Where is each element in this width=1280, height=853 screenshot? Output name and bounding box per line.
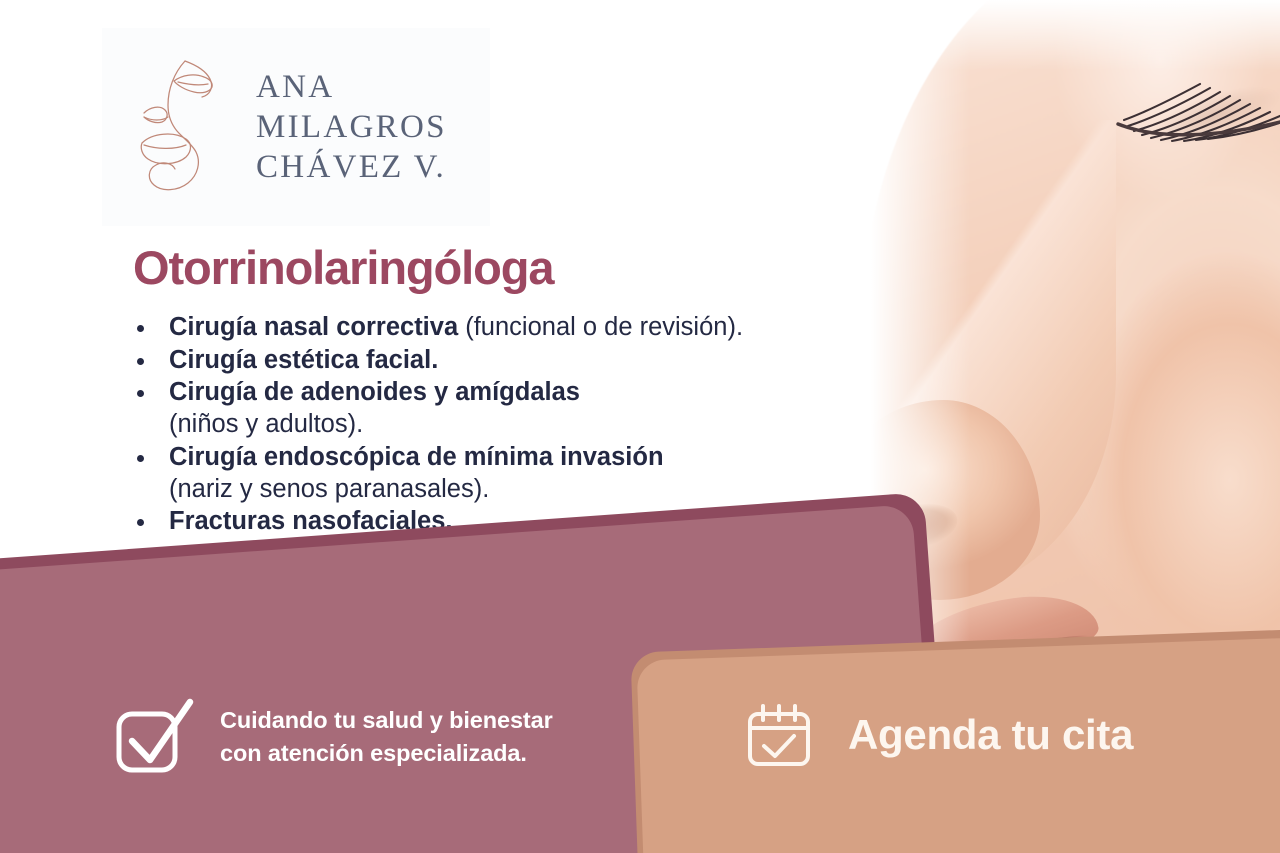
line-art-face-icon <box>130 51 242 203</box>
logo-line-3: CHÁVEZ V. <box>256 147 447 187</box>
service-name: Cirugía estética facial. <box>169 346 438 374</box>
slogan-line-2: con atención especializada. <box>220 737 553 770</box>
calendar-check-icon <box>744 700 814 770</box>
slogan-text: Cuidando tu salud y bienestar con atenci… <box>220 704 553 771</box>
photo-top-fade <box>820 0 1280 70</box>
list-item: Cirugía endoscópica de mínima invasión (… <box>133 442 743 505</box>
appointment-cta[interactable]: Agenda tu cita <box>744 700 1133 770</box>
logo-line-1: ANA <box>256 67 447 107</box>
checkbox-check-icon <box>112 694 198 780</box>
list-item: Cirugía estética facial. <box>133 345 743 377</box>
service-subdetail: (nariz y senos paranasales). <box>169 474 743 506</box>
poster-canvas: ANA MILAGROS CHÁVEZ V. Otorrinolaringólo… <box>0 0 1280 853</box>
brand-logo: ANA MILAGROS CHÁVEZ V. <box>102 28 490 226</box>
service-subdetail: (niños y adultos). <box>169 409 743 441</box>
service-detail: (funcional o de revisión). <box>458 313 743 341</box>
list-item: Cirugía nasal correctiva (funcional o de… <box>133 312 743 344</box>
service-name: Cirugía endoscópica de mínima invasión <box>169 443 664 471</box>
service-name: Cirugía de adenoides y amígdalas <box>169 378 580 406</box>
cta-label: Agenda tu cita <box>848 711 1133 759</box>
services-list: Cirugía nasal correctiva (funcional o de… <box>133 312 743 539</box>
list-item: Cirugía de adenoides y amígdalas (niños … <box>133 377 743 440</box>
logo-wordmark: ANA MILAGROS CHÁVEZ V. <box>256 67 447 188</box>
service-name: Cirugía nasal correctiva <box>169 313 458 341</box>
logo-line-2: MILAGROS <box>256 107 447 147</box>
page-title: Otorrinolaringóloga <box>133 240 553 295</box>
slogan-block: Cuidando tu salud y bienestar con atenci… <box>112 694 553 780</box>
slogan-line-1: Cuidando tu salud y bienestar <box>220 704 553 737</box>
